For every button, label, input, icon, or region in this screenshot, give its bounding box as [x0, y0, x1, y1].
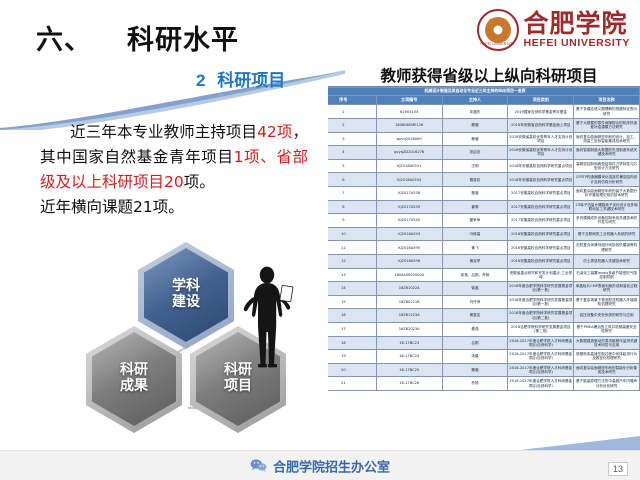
column-header-0: 序号: [328, 96, 376, 105]
cell-立项编号: 16-17BC24: [376, 350, 442, 364]
research-projects-table: 机械设计制造及其自动化专业近三年主持的纵向项目一览表序号立项编号主持人项目类别项…: [328, 87, 640, 391]
cell-立项编号: KJ2017A540: [376, 214, 442, 228]
footer-bar: 合肥学院招生办公室 13: [0, 450, 640, 480]
cell-立项编号: 16Z80221B: [376, 295, 442, 309]
table-row[interactable]: 1516Z80221B刘丹萍2018年度合肥学院科学研究发展基金项目(第一批)基…: [328, 295, 640, 309]
cell-主持人: 姜等: [442, 200, 508, 214]
footer-brand: 合肥学院招生办公室: [250, 456, 390, 475]
cell-主持人: 张启至: [442, 146, 508, 160]
cell-项目类别: 2016安徽高校自然科学研究重点项目: [508, 241, 574, 255]
cell-项目名称: 基于能量原理方法的中高频汽车内噪声分析优化研究: [574, 377, 640, 391]
cell-立项编号: 1804a09020004: [376, 268, 442, 282]
table-caption: 机械设计制造及其自动化专业近三年主持的纵向项目一览表: [328, 88, 640, 96]
cell-项目名称: 石油化工装置levels多级节能型抗气阻控制机制: [574, 268, 640, 282]
table-row[interactable]: 9KJ2017A540董争争2017安徽高校自然科学研究重点项目多向模锻成形设备…: [328, 214, 640, 228]
cell-项目名称: 25转子流量计螺旋转子优化设计及多轴联动加工关键技术研究: [574, 200, 640, 214]
cell-主持人: 秦强: [442, 322, 508, 336]
cell-立项编号: KJ2018A0554: [376, 173, 442, 187]
hexagon-discipline-label: 学科 建设: [172, 279, 200, 310]
cell-序号: 2: [328, 119, 376, 133]
hexagon-discipline-line2: 建设: [172, 295, 200, 311]
cell-序号: 15: [328, 295, 376, 309]
cell-主持人: 年福东: [442, 105, 508, 119]
cell-立项编号: 61903104: [376, 105, 442, 119]
bottom-accent-bar: [520, 436, 640, 450]
cell-序号: 11: [328, 241, 376, 255]
page-number: 13: [608, 462, 628, 476]
cell-序号: 1: [328, 105, 376, 119]
column-header-1: 立项编号: [376, 96, 442, 105]
table-row[interactable]: 5KJ2018A0551汪明2018年安徽高校自然科学研究重点项目高精密控制阀典…: [328, 159, 640, 173]
table-row[interactable]: 1916-17BC24汤晨2016-2017年度合肥学院人才科研基金项目(自然科…: [328, 350, 640, 364]
cell-项目名称: 面向复杂曲面精密车削的智能化分析集成技术研究: [574, 363, 640, 377]
table-body: 机械设计制造及其自动化专业近三年主持的纵向项目一览表序号立项编号主持人项目类别项…: [328, 88, 640, 391]
cell-项目类别: 安徽省重点研究和开发计划重点-工业领域: [508, 268, 574, 282]
cell-序号: 14: [328, 282, 376, 296]
lead-number-42: 42: [257, 123, 277, 141]
cell-立项编号: KJ2016A596: [376, 254, 442, 268]
lead-number-21: 21: [133, 198, 153, 216]
table-row[interactable]: 3gxyq2018069鄢薇2018安徽省高校优秀青年人才支持计划项目面向复杂曲…: [328, 132, 640, 146]
cell-项目类别: 2017安徽高校自然科学研究重点项目: [508, 186, 574, 200]
cell-主持人: 鄢薇: [442, 363, 508, 377]
cell-序号: 18: [328, 336, 376, 350]
cell-主持人: 黄克举: [442, 254, 508, 268]
cell-项目类别: 2017安徽高校自然科学研究重点项目: [508, 200, 574, 214]
page-title: 六、 科研水平: [36, 18, 239, 57]
cell-主持人: 董争争: [442, 214, 508, 228]
table-row[interactable]: 10KJ2016A593马继高2016安徽高校自然科学研究重点项目基于互联网的工…: [328, 227, 640, 241]
cell-主持人: 乔扬: [442, 377, 508, 391]
cell-项目类别: 2016安徽高校自然科学研究重点项目: [508, 227, 574, 241]
column-header-4: 项目名称: [574, 96, 640, 105]
cell-立项编号: 16-17BC26: [376, 377, 442, 391]
cell-项目类别: 2018年度合肥学院科学研究发展基金项目(第一批): [508, 295, 574, 309]
cell-项目类别: 2018年度合肥学院科学研究发展基金项目(第一批): [508, 282, 574, 296]
cell-主持人: 吕刚: [442, 336, 508, 350]
cell-立项编号: KJ2016A595: [376, 241, 442, 255]
cell-项目类别: 2018年安徽高校自然科学研究重点项目: [508, 173, 574, 187]
research-projects-table-container[interactable]: 机械设计制造及其自动化专业近三年主持的纵向项目一览表序号立项编号主持人项目类别项…: [328, 86, 640, 446]
cell-序号: 6: [328, 173, 376, 187]
cell-序号: 10: [328, 227, 376, 241]
cell-项目名称: 高精密控制阀典型结构件力学特性与芯型设计方法研究: [574, 159, 640, 173]
table-row[interactable]: 12KJ2016A596黄克举2016安徽高校自然科学研究重点项目仿土拨鼠机器人…: [328, 254, 640, 268]
logo-english-name: HEFEI UNIVERSITY: [524, 38, 630, 49]
cell-项目类别: 2016年度合肥学院科学研究发展基金项目(第二批): [508, 309, 574, 323]
logo-chinese-name: 合肥学院: [524, 11, 630, 36]
section-title: 科研水平: [127, 25, 239, 55]
cell-主持人: 徐晶: [442, 282, 508, 296]
cell-项目名称: 单晶硅片CMP表面划痕形成和量化过程研究: [574, 282, 640, 296]
table-row[interactable]: 21808085ME126鄢薇2018年安徽省自然科学基金面上项目基于大数据的零…: [328, 119, 640, 133]
hexagon-achievement-line1: 科研: [120, 363, 148, 379]
cell-序号: 8: [328, 200, 376, 214]
slide: 六、 科研水平 2 科研项目 合肥学院 HEFEI UNIVERSITY 合肥学…: [0, 0, 640, 480]
cell-主持人: 鄢薇: [442, 132, 508, 146]
cell-立项编号: 16Z82023A: [376, 322, 442, 336]
cell-项目类别: 2017安徽高校自然科学研究重点项目: [508, 214, 574, 228]
hexagon-achievement-line2: 成果: [120, 379, 148, 395]
cell-主持人: 鄢薇: [442, 186, 508, 200]
cell-主持人: 黄飞: [442, 241, 508, 255]
businessman-silhouette-icon: [240, 264, 294, 368]
hexagon-project-label: 科研 项目: [224, 363, 252, 394]
cell-项目类别: 2016安徽省高校优秀青年人才支持计划项目: [508, 146, 574, 160]
cell-项目名称: 基于PMEA爆治的立风井机械装备安全性研究: [574, 322, 640, 336]
cell-项目名称: 基于复杂场景下物流配送机器人环境感知机理研究: [574, 295, 640, 309]
cell-主持人: 马继高: [442, 227, 508, 241]
lead-text-6: 近年横向课题: [40, 198, 133, 216]
cell-项目名称: 面向智能制造大数据的先进制造系统关键技术研究: [574, 146, 640, 160]
hexagon-achievement-label: 科研 成果: [120, 363, 148, 394]
table-row[interactable]: 8KJ2017A539姜等2017安徽高校自然科学研究重点项目25转子流量计螺旋…: [328, 200, 640, 214]
cell-立项编号: 1808085ME126: [376, 119, 442, 133]
table-row[interactable]: 2116-17BC26乔扬2016-2017年度合肥学院人才科研基金项目(自然科…: [328, 377, 640, 391]
cell-序号: 16: [328, 309, 376, 323]
cell-项目类别: 2016-2017年度合肥学院人才科研基金项目(自然科学): [508, 350, 574, 364]
cell-项目名称: 仿土拨鼠机器人关键技术研究: [574, 254, 640, 268]
table-row[interactable]: 161903104年福东2019国家自然科学基金青年基金基于多模态语义图理解的视…: [328, 105, 640, 119]
seal-bottom-text: HEFEI UNIVERSITY: [480, 42, 514, 46]
cell-立项编号: 16-17BC23: [376, 336, 442, 350]
wechat-icon: [250, 459, 267, 473]
table-header-row: 序号立项编号主持人项目类别项目名称: [328, 96, 640, 105]
university-logo: 合肥学院 HEFEI UNIVERSITY 合肥学院 HEFEI UNIVERS…: [473, 5, 634, 54]
cell-序号: 20: [328, 363, 376, 377]
table-row[interactable]: 131804a09020004徐艳、吕刚、乔扬安徽省重点研究和开发计划重点-工业…: [328, 268, 640, 282]
sub-title-number: 2: [196, 71, 205, 90]
hexagon-diagram: 学科 建设 科研 成果 科研 项目: [92, 248, 332, 444]
cell-序号: 13: [328, 268, 376, 282]
cell-立项编号: gxyqZD2016276: [376, 146, 442, 160]
seal-figure: [493, 26, 502, 35]
cell-序号: 12: [328, 254, 376, 268]
table-row[interactable]: 2016-17BC25鄢薇2016-2017年度合肥学院人才科研基金项目(自然科…: [328, 363, 640, 377]
hexagon-discipline-line1: 学科: [172, 279, 200, 295]
column-header-2: 主持人: [442, 96, 508, 105]
table-row[interactable]: 4gxyqZD2016276张启至2016安徽省高校优秀青年人才支持计划项目面向…: [328, 146, 640, 160]
table-title: 教师获得省级以上纵向科研项目: [344, 64, 634, 86]
table-row[interactable]: 1716Z82023A秦强2018合肥学院科学研究发展基金项目(第二批)基于PM…: [328, 322, 640, 336]
cell-项目名称: 无机复合润滑剂组分间协效抗磨减摩机理研究: [574, 241, 640, 255]
lead-number-1: 1: [234, 148, 244, 166]
cell-项目类别: 2016-2017年度合肥学院人才科研基金项目(自然科学): [508, 363, 574, 377]
cell-序号: 19: [328, 350, 376, 364]
cell-主持人: 汪明: [442, 159, 508, 173]
lead-text-5: 项。: [184, 173, 215, 191]
cell-序号: 4: [328, 146, 376, 160]
cell-项目类别: 2018安徽省高校优秀青年人才支持计划项目: [508, 132, 574, 146]
sub-title: 2 科研项目: [196, 66, 285, 91]
cell-主持人: 鄢薇: [442, 119, 508, 133]
cell-项目名称: 大数据建造驱动的涡流磁悬浮监测关键技术研发与应用: [574, 336, 640, 350]
lead-paragraph: 近三年本专业教师主持项目42项，其中国家自然基金青年项目1项、省部级及以上科研项…: [40, 120, 308, 220]
cell-项目名称: 面向复杂曲面精密车削的量子大数据分析环集成理论知识技术研究: [574, 186, 640, 200]
table-row[interactable]: 11KJ2016A595黄飞2016安徽高校自然科学研究重点项目无机复合润滑剂组…: [328, 241, 640, 255]
cell-立项编号: KJ2017A539: [376, 200, 442, 214]
section-number: 六、: [36, 25, 92, 55]
logo-text: 合肥学院 HEFEI UNIVERSITY: [524, 11, 630, 49]
cell-立项编号: 16Z81223A: [376, 309, 442, 323]
table-row[interactable]: 1816-17BC23吕刚2016-2017年度合肥学院人才科研基金项目(自然科…: [328, 336, 640, 350]
cell-序号: 17: [328, 322, 376, 336]
cell-立项编号: KJ2018A0551: [376, 159, 442, 173]
cell-序号: 9: [328, 214, 376, 228]
table-row[interactable]: 7KJ2017A538鄢薇2017安徽高校自然科学研究重点项目面向复杂曲面精密车…: [328, 186, 640, 200]
cell-项目名称: 基于大数据的零件间隙配合的机床热误差补偿建模方法研究: [574, 119, 640, 133]
cell-项目名称: 多向模锻成形设备控制系统关键技术的开发与研究: [574, 214, 640, 228]
footer-brand-text: 合肥学院招生办公室: [273, 456, 390, 475]
cell-项目名称: 面向复杂曲面精密车削的设计、加工、测量三坐标智能集成技术研究: [574, 132, 640, 146]
cell-项目类别: 2016-2017年度合肥学院人才科研基金项目(自然科学): [508, 377, 574, 391]
hexagon-project-line2: 项目: [224, 379, 252, 395]
cell-主持人: 刘丹萍: [442, 295, 508, 309]
sub-title-text: 科研项目: [217, 71, 285, 90]
table-row[interactable]: 1616Z81223A黄富友2016年度合肥学院科学研究发展基金项目(第二批)铝…: [328, 309, 640, 323]
cell-项目类别: 2018合肥学院科学研究发展基金项目(第二批): [508, 322, 574, 336]
lead-number-20: 20: [164, 173, 184, 191]
cell-主持人: 戴淮初: [442, 173, 508, 187]
cell-立项编号: KJ2017A538: [376, 186, 442, 200]
cell-主持人: 黄富友: [442, 309, 508, 323]
lead-text-1: 近三年本专业教师主持项目: [70, 123, 257, 141]
lead-text-2: 项: [277, 123, 293, 141]
cell-项目类别: 2016安徽高校自然科学研究重点项目: [508, 254, 574, 268]
university-seal-icon: 合肥学院 HEFEI UNIVERSITY: [477, 9, 519, 51]
cell-项目类别: 2018年安徽省自然科学基金面上项目: [508, 119, 574, 133]
cell-立项编号: KJ2016A593: [376, 227, 442, 241]
cell-立项编号: 16Z81022A: [376, 282, 442, 296]
cell-立项编号: 16-17BC25: [376, 363, 442, 377]
cell-项目名称: 铁基粉末高速压制过程中坯体鬆排行为及致密化机理研究: [574, 350, 640, 364]
cell-项目类别: 2019国家自然科学基金青年基金: [508, 105, 574, 119]
cell-项目名称: 铝压设备中央安系统的研究与应用: [574, 309, 640, 323]
table-row[interactable]: 6KJ2018A0554戴淮初2018年安徽高校自然科学研究重点项目CFRTP构…: [328, 173, 640, 187]
cell-项目名称: CFRTP构造器模块化连接件兼容结构设计及其仿真分析研究: [574, 173, 640, 187]
cell-序号: 3: [328, 132, 376, 146]
lead-text-7: 项。: [153, 198, 184, 216]
cell-项目名称: 基于互联网的工业机器人系统的研究: [574, 227, 640, 241]
cell-序号: 7: [328, 186, 376, 200]
cell-主持人: 徐艳、吕刚、乔扬: [442, 268, 508, 282]
cell-立项编号: gxyq2018069: [376, 132, 442, 146]
cell-序号: 21: [328, 377, 376, 391]
cell-项目类别: 2016-2017年度合肥学院人才科研基金项目(自然科学): [508, 336, 574, 350]
cell-项目名称: 基于多模态语义图理解的视频特征表示研究: [574, 105, 640, 119]
column-header-3: 项目类别: [508, 96, 574, 105]
table-row[interactable]: 1416Z81022A徐晶2018年度合肥学院科学研究发展基金项目(第一批)单晶…: [328, 282, 640, 296]
cell-主持人: 汤晨: [442, 350, 508, 364]
cell-项目类别: 2018年安徽高校自然科学研究重点项目: [508, 159, 574, 173]
table-caption-row: 机械设计制造及其自动化专业近三年主持的纵向项目一览表: [328, 88, 640, 96]
cell-序号: 5: [328, 159, 376, 173]
